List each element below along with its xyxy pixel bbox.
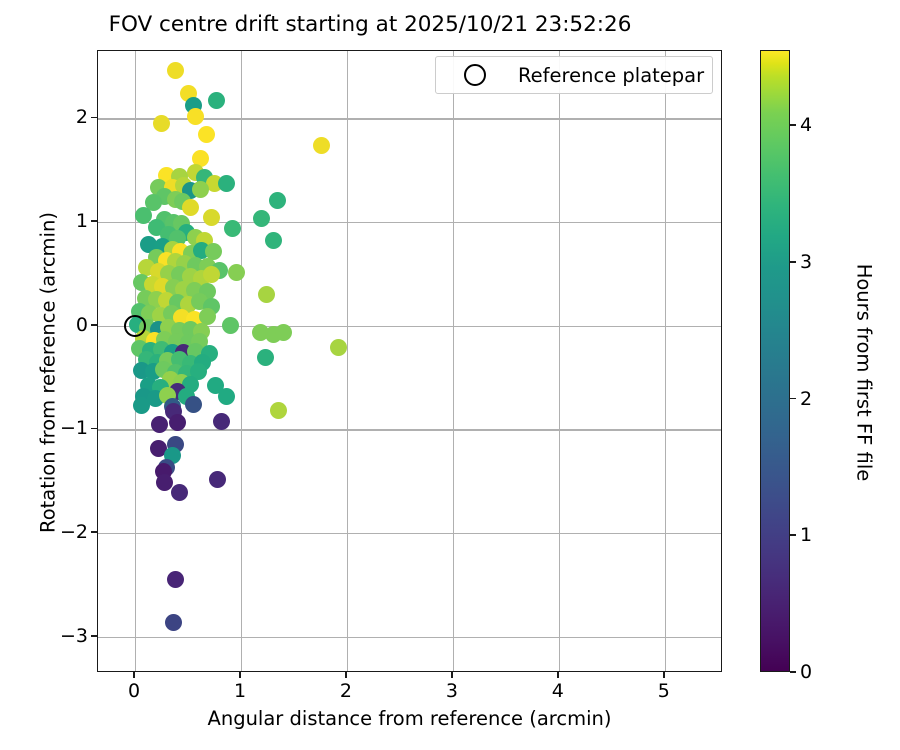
scatter-point xyxy=(192,181,209,198)
page-title: FOV centre drift starting at 2025/10/21 … xyxy=(0,12,740,37)
colorbar-tick-label: 0 xyxy=(800,661,812,683)
gridline-horizontal xyxy=(98,637,721,638)
y-axis-tick xyxy=(91,117,97,119)
gridline-vertical xyxy=(241,51,242,671)
scatter-point xyxy=(205,243,222,260)
scatter-point xyxy=(270,402,287,419)
colorbar-tick-label: 2 xyxy=(800,388,812,410)
scatter-point xyxy=(224,220,241,237)
scatter-point xyxy=(253,210,270,227)
scatter-point xyxy=(203,266,220,283)
plot-area[interactable] xyxy=(97,50,722,672)
scatter-point xyxy=(218,388,235,405)
scatter-point xyxy=(257,349,274,366)
gridline-horizontal xyxy=(98,429,721,430)
x-axis-tick xyxy=(663,672,665,678)
x-axis-tick-label: 4 xyxy=(552,680,564,702)
scatter-point xyxy=(185,396,202,413)
scatter-point xyxy=(182,199,199,216)
x-axis-tick-label: 1 xyxy=(234,680,246,702)
scatter-point xyxy=(203,209,220,226)
gridline-vertical xyxy=(135,51,136,671)
scatter-point xyxy=(167,571,184,588)
scatter-point xyxy=(218,175,235,192)
scatter-point xyxy=(171,484,188,501)
x-axis-tick-label: 5 xyxy=(658,680,670,702)
y-axis-tick-label: −3 xyxy=(60,625,88,647)
gridline-horizontal xyxy=(98,222,721,223)
scatter-point xyxy=(258,286,275,303)
colorbar-tick-label: 4 xyxy=(800,114,812,136)
y-axis-tick-label: 2 xyxy=(76,106,88,128)
reference-platepar-marker xyxy=(124,315,146,337)
scatter-point xyxy=(167,62,184,79)
scatter-point xyxy=(330,339,347,356)
y-axis-tick-label: −1 xyxy=(60,417,88,439)
scatter-point xyxy=(199,308,216,325)
gridline-vertical xyxy=(665,51,666,671)
gridline-horizontal xyxy=(98,533,721,534)
x-axis-tick xyxy=(239,672,241,678)
colorbar-label: Hours from first FF file xyxy=(853,62,876,684)
scatter-point xyxy=(165,614,182,631)
colorbar-tick xyxy=(790,398,796,400)
x-axis-tick xyxy=(133,672,135,678)
scatter-point xyxy=(265,232,282,249)
scatter-point xyxy=(153,115,170,132)
y-axis-tick xyxy=(91,428,97,430)
x-axis-tick-label: 0 xyxy=(128,680,140,702)
gridline-vertical xyxy=(347,51,348,671)
colorbar-tick xyxy=(790,261,796,263)
y-axis-tick xyxy=(91,635,97,637)
legend: Reference platepar xyxy=(435,56,713,94)
x-axis-tick xyxy=(557,672,559,678)
scatter-point xyxy=(187,108,204,125)
scatter-point xyxy=(198,126,215,143)
colorbar-tick xyxy=(790,671,796,673)
gridline-vertical xyxy=(559,51,560,671)
x-axis-tick xyxy=(451,672,453,678)
y-axis-tick-label: 1 xyxy=(76,210,88,232)
y-axis-tick xyxy=(91,220,97,222)
scatter-point xyxy=(269,192,286,209)
scatter-point xyxy=(208,92,225,109)
x-axis-tick xyxy=(345,672,347,678)
colorbar-gradient xyxy=(760,50,790,672)
y-axis-tick xyxy=(91,531,97,533)
y-axis-label: Rotation from reference (arcmin) xyxy=(37,62,60,684)
figure-canvas: FOV centre drift starting at 2025/10/21 … xyxy=(0,0,900,750)
scatter-point xyxy=(151,416,168,433)
y-axis-tick xyxy=(91,324,97,326)
colorbar-tick-label: 1 xyxy=(800,524,812,546)
scatter-point xyxy=(213,413,230,430)
scatter-point xyxy=(156,474,173,491)
gridline-vertical xyxy=(453,51,454,671)
colorbar-tick-label: 3 xyxy=(800,251,812,273)
reference-platepar-marker-icon xyxy=(464,64,486,86)
scatter-point xyxy=(228,264,245,281)
y-axis-tick-label: −2 xyxy=(60,521,88,543)
x-axis-label: Angular distance from reference (arcmin) xyxy=(97,707,722,730)
colorbar[interactable] xyxy=(760,50,790,672)
scatter-point xyxy=(169,414,186,431)
legend-item-label: Reference platepar xyxy=(518,64,704,87)
scatter-point xyxy=(209,471,226,488)
scatter-point xyxy=(133,397,150,414)
colorbar-tick xyxy=(790,534,796,536)
x-axis-tick-label: 3 xyxy=(446,680,458,702)
scatter-point xyxy=(313,137,330,154)
y-axis-tick-label: 0 xyxy=(76,314,88,336)
colorbar-tick xyxy=(790,124,796,126)
scatter-point xyxy=(222,317,239,334)
scatter-point xyxy=(275,324,292,341)
x-axis-tick-label: 2 xyxy=(340,680,352,702)
